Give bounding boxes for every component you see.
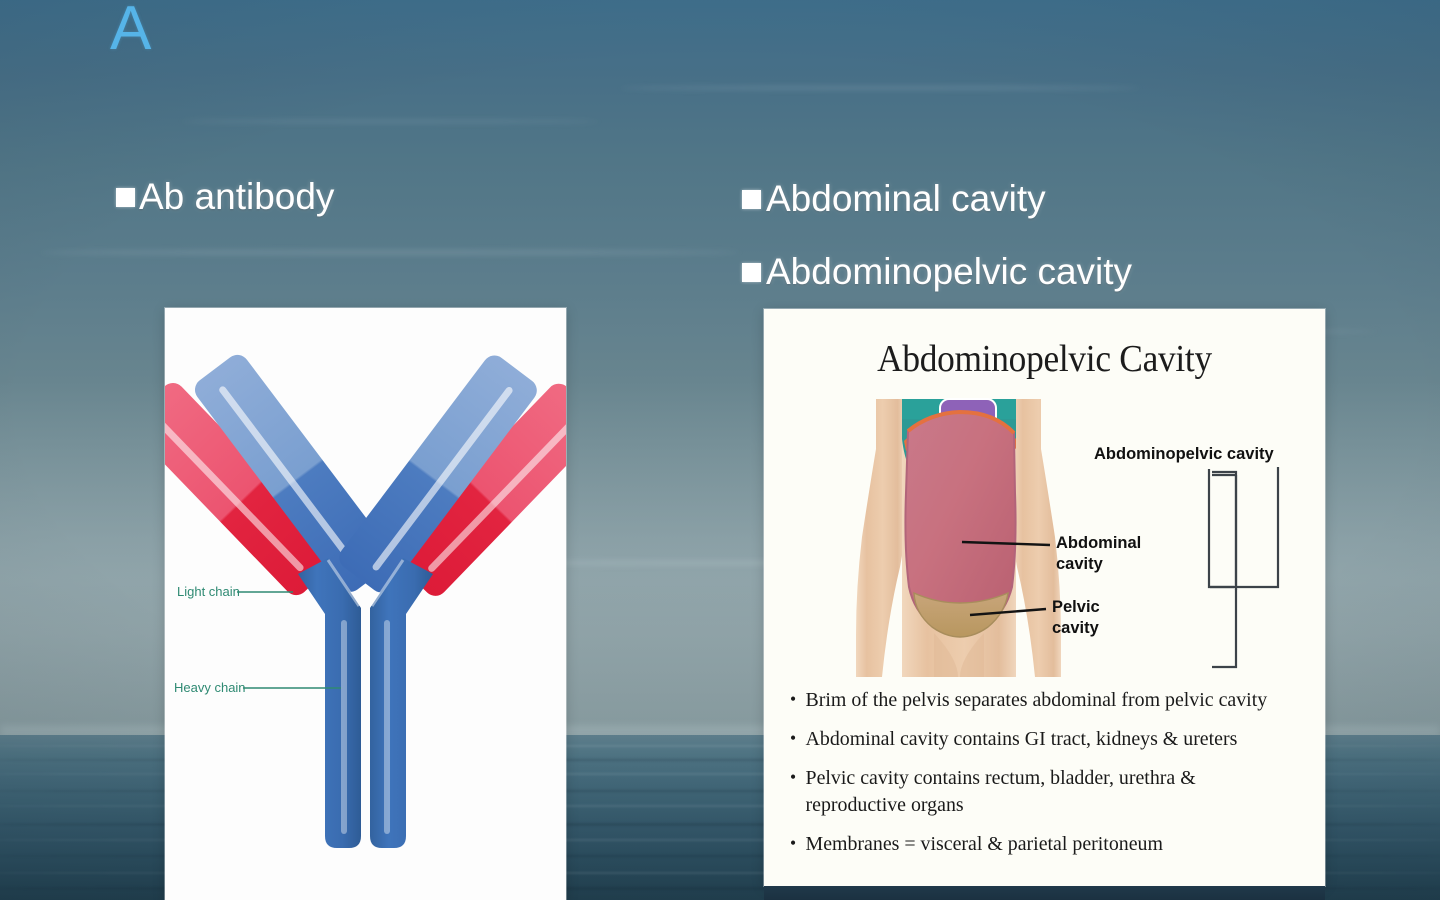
right-heading-label-1: Abdominal cavity xyxy=(766,178,1046,220)
right-heading-label-2: Abdominopelvic cavity xyxy=(766,251,1132,293)
bullet-dot-icon: • xyxy=(790,687,806,711)
list-item-text: Membranes = visceral & parietal peritone… xyxy=(806,831,1296,858)
right-heading-line-2: Abdominopelvic cavity xyxy=(742,251,1132,293)
pelvic-cavity-label-line2: cavity xyxy=(1052,619,1100,637)
square-bullet-icon xyxy=(116,188,135,207)
ghost-watermark-text xyxy=(420,14,720,60)
heavy-chain-label: Heavy chain xyxy=(174,680,246,695)
antibody-image-panel: Light chain Heavy chain xyxy=(165,308,566,900)
anatomy-figure: Abdominopelvic cavity Abdominal cavity P… xyxy=(784,397,1309,677)
list-item-text: Abdominal cavity contains GI tract, kidn… xyxy=(806,726,1296,753)
bullet-dot-icon: • xyxy=(790,765,806,789)
light-chain-label: Light chain xyxy=(177,584,240,599)
slide-letter: A xyxy=(110,0,151,60)
abdominopelvic-image-panel: Abdominopelvic Cavity xyxy=(764,309,1325,886)
bullet-dot-icon: • xyxy=(790,726,806,750)
list-item: • Membranes = visceral & parietal perito… xyxy=(790,831,1295,858)
list-item: • Brim of the pelvis separates abdominal… xyxy=(790,687,1295,714)
list-item-text: Pelvic cavity contains rectum, bladder, … xyxy=(806,765,1296,819)
left-heading-label: Ab antibody xyxy=(139,176,334,218)
left-heading-line: Ab antibody xyxy=(116,176,334,218)
abdominopelvic-bullet-list: • Brim of the pelvis separates abdominal… xyxy=(790,687,1311,870)
square-bullet-icon xyxy=(742,190,761,209)
pelvic-cavity-label-line1: Pelvic xyxy=(1052,598,1100,616)
antibody-figure: Light chain Heavy chain xyxy=(165,308,566,900)
abdominal-cavity-label-line1: Abdominal xyxy=(1056,534,1141,552)
list-item: • Pelvic cavity contains rectum, bladder… xyxy=(790,765,1295,819)
right-heading-line-1: Abdominal cavity xyxy=(742,178,1046,220)
abdominopelvic-title: Abdominopelvic Cavity xyxy=(784,337,1306,381)
bullet-dot-icon: • xyxy=(790,831,806,855)
list-item: • Abdominal cavity contains GI tract, ki… xyxy=(790,726,1295,753)
panel-bottom-strip xyxy=(764,886,1325,900)
abdominal-cavity-label-line2: cavity xyxy=(1056,555,1104,573)
abdominopelvic-cavity-label: Abdominopelvic cavity xyxy=(1094,445,1275,463)
square-bullet-icon xyxy=(742,263,761,282)
list-item-text: Brim of the pelvis separates abdominal f… xyxy=(806,687,1296,714)
